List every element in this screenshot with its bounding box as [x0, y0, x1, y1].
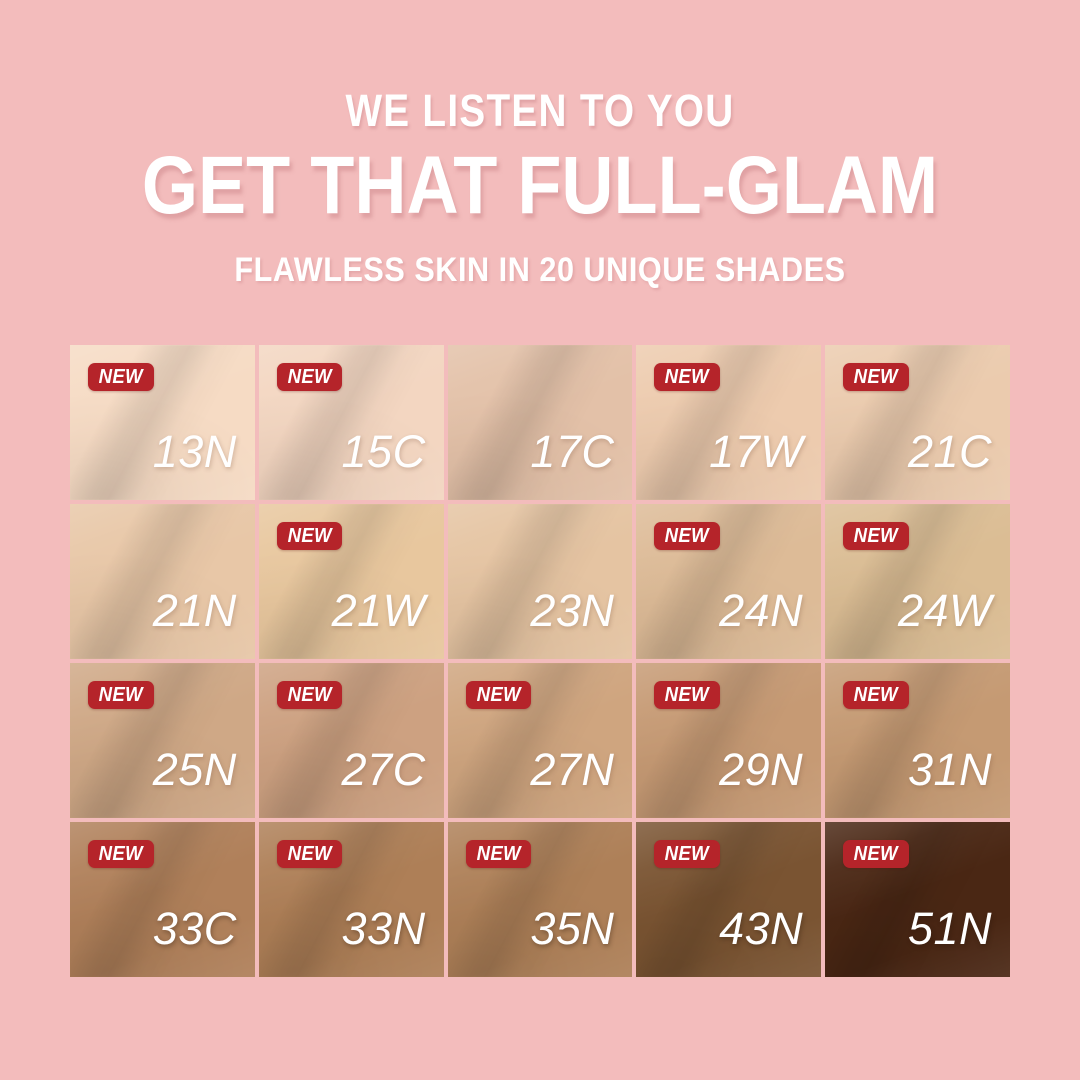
new-badge: NEW: [277, 681, 343, 709]
shade-swatch[interactable]: NEW13N: [70, 345, 255, 500]
shade-swatch[interactable]: NEW43N: [636, 822, 821, 977]
shade-code-label: 21W: [332, 588, 426, 633]
shade-code-label: 31N: [908, 747, 992, 792]
new-badge-label: NEW: [287, 844, 331, 864]
new-badge: NEW: [277, 522, 343, 550]
shade-code-label: 15C: [342, 429, 426, 474]
shade-swatch[interactable]: NEW33C: [70, 822, 255, 977]
shade-code-label: 24W: [898, 588, 992, 633]
shade-code-label: 25N: [153, 747, 237, 792]
new-badge-label: NEW: [99, 367, 143, 387]
new-badge-label: NEW: [665, 844, 709, 864]
shade-swatch[interactable]: NEW17W: [636, 345, 821, 500]
headline-subtitle: FLAWLESS SKIN IN 20 UNIQUE SHADES: [54, 250, 1026, 290]
shade-swatch-grid: NEW13NNEW15CNEW17CNEW17WNEW21CNEW21NNEW2…: [70, 345, 1010, 977]
shade-swatch[interactable]: NEW31N: [825, 663, 1010, 818]
headline-eyebrow: WE LISTEN TO YOU: [76, 86, 1005, 136]
shade-swatch[interactable]: NEW17C: [448, 345, 633, 500]
new-badge: NEW: [843, 363, 909, 391]
shade-code-label: 35N: [530, 906, 614, 951]
new-badge-label: NEW: [854, 526, 898, 546]
shade-swatch[interactable]: NEW33N: [259, 822, 444, 977]
shade-swatch[interactable]: NEW25N: [70, 663, 255, 818]
shade-swatch[interactable]: NEW15C: [259, 345, 444, 500]
headline-main: GET THAT FULL-GLAM: [65, 140, 1015, 232]
shade-swatch[interactable]: NEW27C: [259, 663, 444, 818]
shade-code-label: 27C: [342, 747, 426, 792]
shade-swatch[interactable]: NEW24N: [636, 504, 821, 659]
new-badge: NEW: [654, 363, 720, 391]
new-badge: NEW: [843, 681, 909, 709]
new-badge: NEW: [466, 681, 532, 709]
shade-code-label: 17W: [709, 429, 803, 474]
shade-swatch[interactable]: NEW21C: [825, 345, 1010, 500]
new-badge: NEW: [654, 681, 720, 709]
new-badge-label: NEW: [665, 367, 709, 387]
new-badge-label: NEW: [476, 844, 520, 864]
promo-banner: WE LISTEN TO YOU GET THAT FULL-GLAM FLAW…: [0, 0, 1080, 1080]
shade-code-label: 13N: [153, 429, 237, 474]
new-badge: NEW: [277, 363, 343, 391]
shade-swatch[interactable]: NEW24W: [825, 504, 1010, 659]
shade-code-label: 33C: [153, 906, 237, 951]
headline-block: WE LISTEN TO YOU GET THAT FULL-GLAM FLAW…: [0, 86, 1080, 290]
shade-swatch[interactable]: NEW23N: [448, 504, 633, 659]
new-badge: NEW: [88, 681, 154, 709]
shade-code-label: 51N: [908, 906, 992, 951]
new-badge: NEW: [88, 363, 154, 391]
new-badge-label: NEW: [854, 685, 898, 705]
new-badge-label: NEW: [287, 526, 331, 546]
shade-code-label: 23N: [530, 588, 614, 633]
shade-swatch[interactable]: NEW21N: [70, 504, 255, 659]
new-badge: NEW: [843, 522, 909, 550]
shade-code-label: 43N: [719, 906, 803, 951]
new-badge-label: NEW: [665, 685, 709, 705]
shade-code-label: 21C: [908, 429, 992, 474]
new-badge-label: NEW: [99, 844, 143, 864]
new-badge: NEW: [843, 840, 909, 868]
shade-swatch[interactable]: NEW21W: [259, 504, 444, 659]
shade-code-label: 33N: [342, 906, 426, 951]
new-badge-label: NEW: [854, 844, 898, 864]
shade-swatch[interactable]: NEW27N: [448, 663, 633, 818]
shade-swatch[interactable]: NEW29N: [636, 663, 821, 818]
shade-code-label: 17C: [530, 429, 614, 474]
shade-swatch[interactable]: NEW51N: [825, 822, 1010, 977]
new-badge-label: NEW: [854, 367, 898, 387]
shade-code-label: 29N: [719, 747, 803, 792]
new-badge: NEW: [654, 522, 720, 550]
new-badge-label: NEW: [476, 685, 520, 705]
new-badge: NEW: [277, 840, 343, 868]
new-badge-label: NEW: [665, 526, 709, 546]
new-badge: NEW: [654, 840, 720, 868]
shade-swatch[interactable]: NEW35N: [448, 822, 633, 977]
shade-code-label: 21N: [153, 588, 237, 633]
new-badge-label: NEW: [99, 685, 143, 705]
new-badge-label: NEW: [287, 367, 331, 387]
new-badge: NEW: [466, 840, 532, 868]
shade-code-label: 27N: [530, 747, 614, 792]
shade-code-label: 24N: [719, 588, 803, 633]
new-badge-label: NEW: [287, 685, 331, 705]
new-badge: NEW: [88, 840, 154, 868]
